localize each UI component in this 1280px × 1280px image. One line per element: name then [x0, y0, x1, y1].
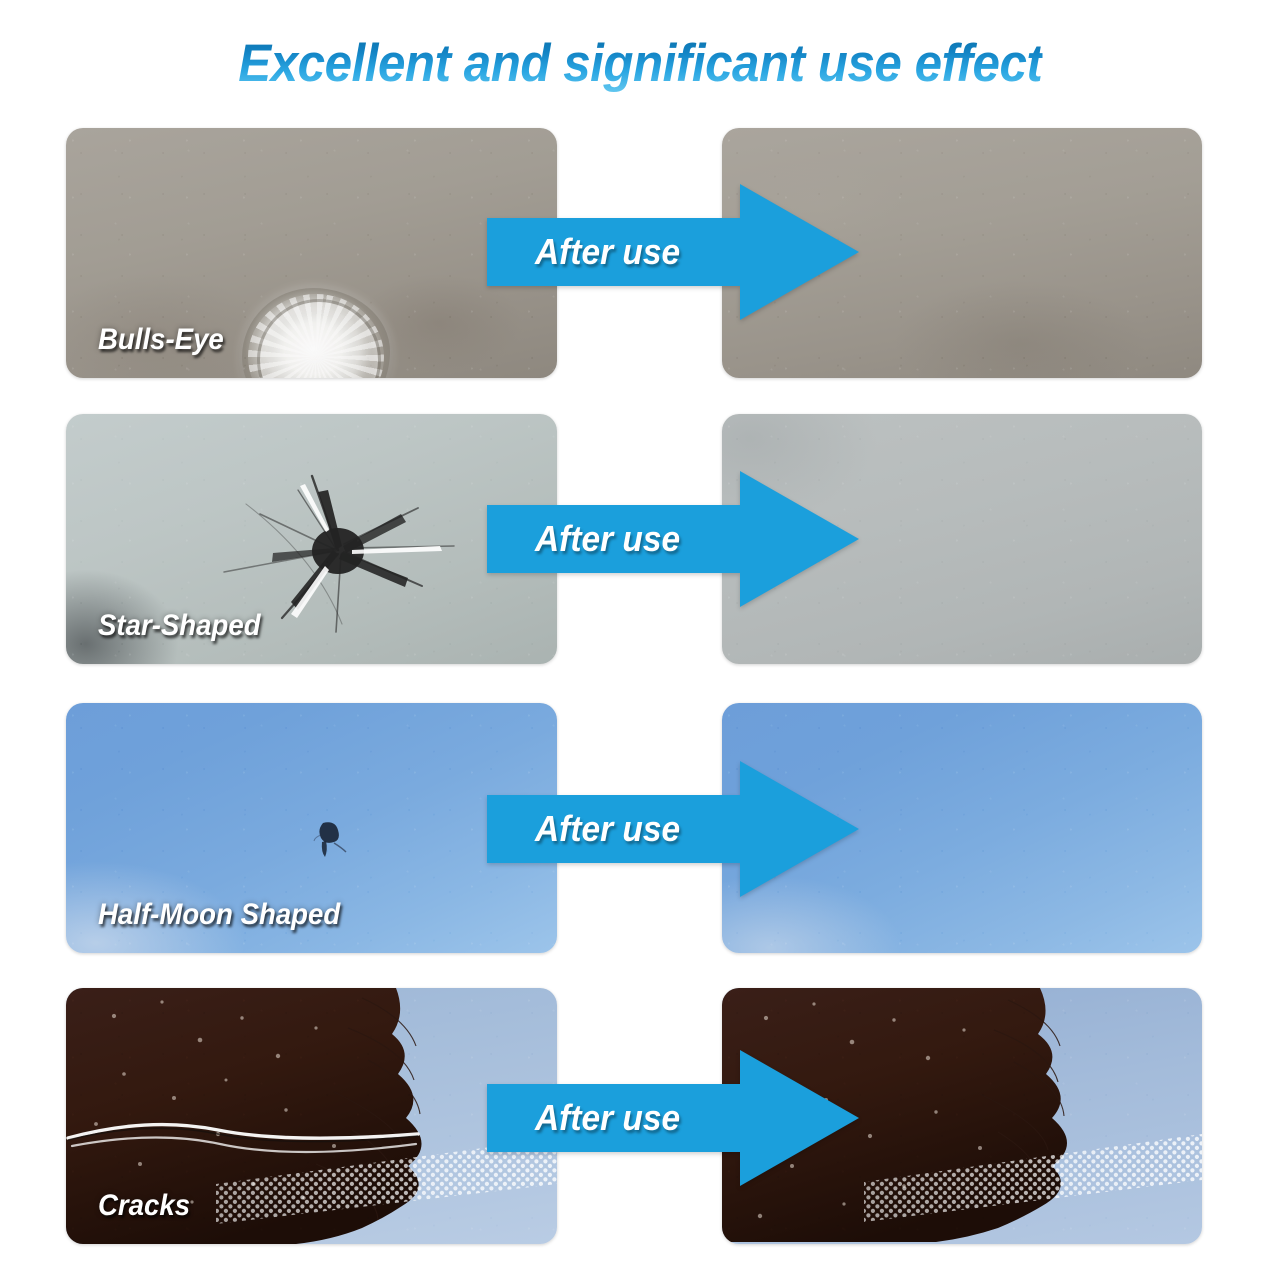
before-image-bulls-eye: Bulls-Eye	[66, 128, 557, 378]
after-use-label: After use	[535, 1099, 680, 1137]
after-use-label: After use	[535, 520, 680, 558]
after-use-arrow-half-moon[interactable]: After use	[487, 761, 859, 897]
comparison-row-cracks: Cracks	[0, 988, 1280, 1244]
comparison-row-bulls-eye: Bulls-Eye After use	[0, 128, 1280, 378]
before-image-star-shaped: Star-Shaped	[66, 414, 557, 664]
damage-type-label: Cracks	[98, 1190, 190, 1222]
comparison-row-star-shaped: Star-Shaped After use	[0, 414, 1280, 664]
damage-type-label: Half-Moon Shaped	[98, 899, 340, 931]
page-title-container: Excellent and significant use effect	[0, 34, 1280, 100]
damage-type-label: Bulls-Eye	[98, 324, 224, 356]
before-image-half-moon: Half-Moon Shaped	[66, 703, 557, 953]
damage-type-label: Star-Shaped	[98, 610, 261, 642]
after-use-label: After use	[535, 233, 680, 271]
after-use-arrow-star-shaped[interactable]: After use	[487, 471, 859, 607]
after-use-arrow-cracks[interactable]: After use	[487, 1050, 859, 1186]
after-use-arrow-bulls-eye[interactable]: After use	[487, 184, 859, 320]
comparison-row-half-moon: Half-Moon Shaped After use	[0, 703, 1280, 953]
page-title: Excellent and significant use effect	[238, 34, 1042, 94]
after-use-label: After use	[535, 810, 680, 848]
before-image-cracks: Cracks	[66, 988, 557, 1244]
